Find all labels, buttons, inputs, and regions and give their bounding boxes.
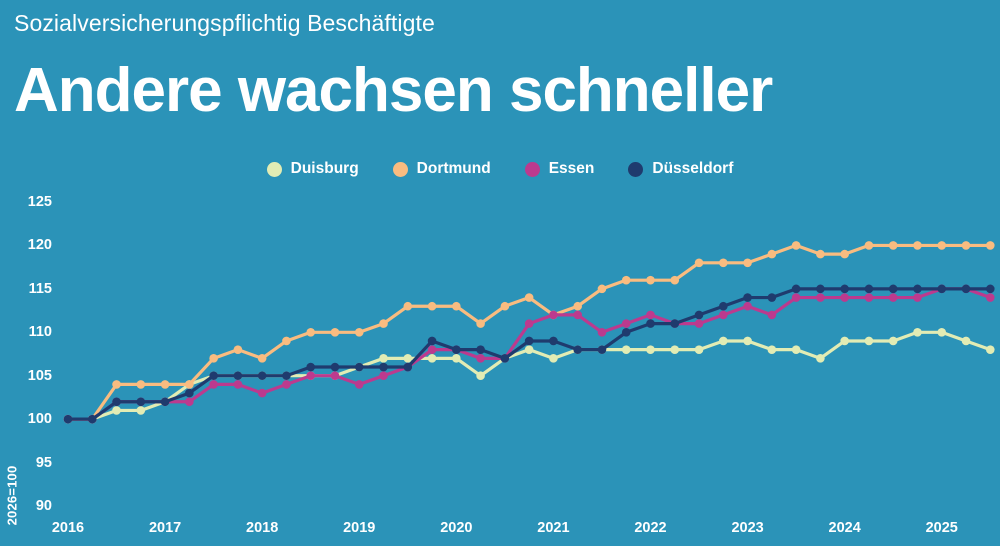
data-point-marker <box>646 319 655 328</box>
data-point-marker <box>379 371 388 380</box>
data-point-marker <box>137 406 146 415</box>
legend-label: Dortmund <box>417 160 491 178</box>
legend-label: Duisburg <box>291 160 359 178</box>
data-point-marker <box>937 285 946 294</box>
series-dusseldorf <box>64 285 995 424</box>
legend-dot-icon <box>393 162 408 177</box>
data-point-marker <box>234 371 243 380</box>
data-point-marker <box>598 328 607 337</box>
data-point-marker <box>598 285 607 294</box>
data-point-marker <box>573 345 582 354</box>
data-point-marker <box>258 371 267 380</box>
data-point-marker <box>64 415 73 424</box>
data-point-marker <box>840 337 849 346</box>
data-point-marker <box>743 337 752 346</box>
data-point-marker <box>622 276 631 285</box>
data-point-marker <box>282 337 291 346</box>
legend-dot-icon <box>628 162 643 177</box>
data-point-marker <box>889 241 898 250</box>
data-point-marker <box>646 345 655 354</box>
legend-item-duisburg[interactable]: Duisburg <box>267 160 359 178</box>
data-point-marker <box>889 285 898 294</box>
data-point-marker <box>792 241 801 250</box>
data-point-marker <box>962 285 971 294</box>
data-point-marker <box>816 354 825 363</box>
data-point-marker <box>185 389 194 398</box>
series-line <box>68 332 990 419</box>
data-point-marker <box>185 397 194 406</box>
data-point-marker <box>986 293 995 302</box>
data-point-marker <box>865 285 874 294</box>
data-point-marker <box>355 380 364 389</box>
data-point-marker <box>234 345 243 354</box>
data-point-marker <box>768 311 777 320</box>
data-point-marker <box>209 354 218 363</box>
data-point-marker <box>719 259 728 268</box>
data-point-marker <box>403 302 412 311</box>
page-title: Andere wachsen schneller <box>14 58 772 123</box>
data-point-marker <box>719 302 728 311</box>
data-point-marker <box>428 345 437 354</box>
data-point-marker <box>331 328 340 337</box>
data-point-marker <box>743 302 752 311</box>
data-point-marker <box>209 371 218 380</box>
data-point-marker <box>937 328 946 337</box>
data-point-marker <box>452 345 461 354</box>
data-point-marker <box>792 345 801 354</box>
legend-label: Düsseldorf <box>652 160 733 178</box>
data-point-marker <box>670 345 679 354</box>
series-line <box>68 289 990 419</box>
data-point-marker <box>670 319 679 328</box>
data-point-marker <box>355 328 364 337</box>
data-point-marker <box>962 241 971 250</box>
data-point-marker <box>816 293 825 302</box>
data-point-marker <box>476 319 485 328</box>
data-point-marker <box>112 380 121 389</box>
data-point-marker <box>137 380 146 389</box>
data-point-marker <box>986 285 995 294</box>
data-point-marker <box>476 345 485 354</box>
data-point-marker <box>913 293 922 302</box>
data-point-marker <box>379 319 388 328</box>
legend-item-dortmund[interactable]: Dortmund <box>393 160 491 178</box>
data-point-marker <box>549 337 558 346</box>
data-point-marker <box>258 354 267 363</box>
data-point-marker <box>816 250 825 259</box>
data-point-marker <box>379 354 388 363</box>
data-point-marker <box>112 406 121 415</box>
data-point-marker <box>209 380 218 389</box>
data-point-marker <box>695 259 704 268</box>
data-point-marker <box>185 380 194 389</box>
data-point-marker <box>403 363 412 372</box>
series-essen <box>64 285 995 424</box>
data-point-marker <box>768 293 777 302</box>
data-point-marker <box>161 397 170 406</box>
data-point-marker <box>501 302 510 311</box>
data-point-marker <box>646 311 655 320</box>
series-line <box>68 245 990 419</box>
data-point-marker <box>525 293 534 302</box>
data-point-marker <box>282 371 291 380</box>
data-point-marker <box>622 319 631 328</box>
data-point-marker <box>646 276 655 285</box>
data-point-marker <box>913 285 922 294</box>
series-line <box>68 289 990 419</box>
data-point-marker <box>549 311 558 320</box>
data-point-marker <box>452 302 461 311</box>
data-point-marker <box>476 371 485 380</box>
data-point-marker <box>112 397 121 406</box>
data-point-marker <box>573 311 582 320</box>
data-point-marker <box>525 337 534 346</box>
data-point-marker <box>695 311 704 320</box>
data-point-marker <box>768 250 777 259</box>
data-point-marker <box>913 241 922 250</box>
data-point-marker <box>476 354 485 363</box>
data-point-marker <box>792 293 801 302</box>
data-point-marker <box>865 293 874 302</box>
data-point-marker <box>768 345 777 354</box>
data-point-marker <box>137 397 146 406</box>
data-point-marker <box>865 337 874 346</box>
data-point-marker <box>88 415 97 424</box>
data-point-marker <box>743 293 752 302</box>
data-point-marker <box>331 371 340 380</box>
data-point-marker <box>889 293 898 302</box>
data-point-marker <box>622 328 631 337</box>
data-point-marker <box>695 345 704 354</box>
data-point-marker <box>670 276 679 285</box>
data-point-marker <box>889 337 898 346</box>
legend-label: Essen <box>549 160 595 178</box>
data-point-marker <box>913 328 922 337</box>
data-point-marker <box>428 337 437 346</box>
chart-legend: DuisburgDortmundEssenDüsseldorf <box>0 160 1000 178</box>
legend-item-dusseldorf[interactable]: Düsseldorf <box>628 160 733 178</box>
data-point-marker <box>840 250 849 259</box>
data-point-marker <box>234 380 243 389</box>
legend-dot-icon <box>525 162 540 177</box>
data-point-marker <box>331 363 340 372</box>
data-point-marker <box>403 354 412 363</box>
data-point-marker <box>719 311 728 320</box>
data-point-marker <box>258 389 267 398</box>
data-point-marker <box>840 285 849 294</box>
data-point-marker <box>840 293 849 302</box>
chart-plot-area: 2026=100 9095100105110115120125 20162017… <box>0 185 1000 544</box>
data-point-marker <box>282 380 291 389</box>
data-point-marker <box>937 241 946 250</box>
legend-item-essen[interactable]: Essen <box>525 160 595 178</box>
data-point-marker <box>355 363 364 372</box>
data-point-marker <box>865 241 874 250</box>
data-point-marker <box>962 337 971 346</box>
data-point-marker <box>573 302 582 311</box>
data-point-marker <box>695 319 704 328</box>
data-point-marker <box>306 328 315 337</box>
data-point-marker <box>501 354 510 363</box>
line-chart-svg <box>0 185 1000 544</box>
data-point-marker <box>525 319 534 328</box>
series-dortmund <box>64 241 995 423</box>
data-point-marker <box>306 363 315 372</box>
data-point-marker <box>452 354 461 363</box>
kicker-text: Sozialversicherungspflichtig Beschäftigt… <box>14 10 435 37</box>
data-point-marker <box>598 345 607 354</box>
data-point-marker <box>986 345 995 354</box>
legend-dot-icon <box>267 162 282 177</box>
data-point-marker <box>525 345 534 354</box>
data-point-marker <box>986 241 995 250</box>
data-point-marker <box>816 285 825 294</box>
data-point-marker <box>428 302 437 311</box>
data-point-marker <box>792 285 801 294</box>
data-point-marker <box>743 259 752 268</box>
data-point-marker <box>622 345 631 354</box>
data-point-marker <box>379 363 388 372</box>
data-point-marker <box>306 371 315 380</box>
data-point-marker <box>719 337 728 346</box>
data-point-marker <box>549 354 558 363</box>
data-point-marker <box>161 380 170 389</box>
data-point-marker <box>428 354 437 363</box>
